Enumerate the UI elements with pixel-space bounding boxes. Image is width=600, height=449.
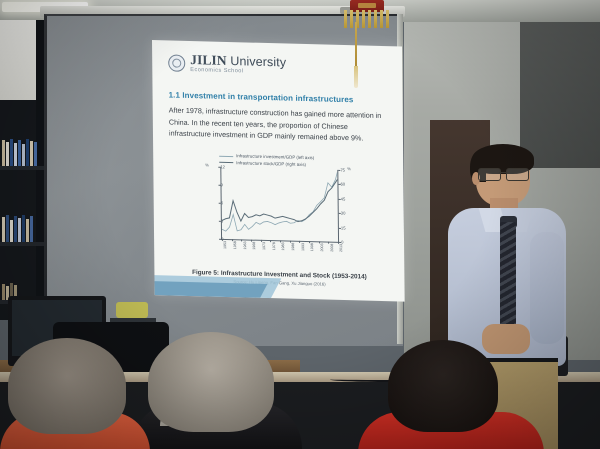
chart-plot-area — [221, 167, 338, 242]
glasses-icon — [478, 168, 530, 179]
logo-university-suffix: University — [227, 54, 287, 70]
desk-lamp — [116, 302, 148, 318]
bookshelf-plank — [0, 166, 44, 170]
x-tick-label: 1988 — [291, 243, 295, 251]
bookshelf-top-panel — [0, 20, 40, 100]
book-group — [2, 214, 33, 242]
x-tick-label: 1983 — [281, 242, 285, 250]
x-tick-label: 1978 — [272, 242, 276, 250]
x-tick-label: 2013 — [339, 244, 343, 252]
screenshot-root: JILIN University Economics School 1.1 In… — [0, 0, 600, 449]
presenter-arm-left — [450, 232, 484, 344]
chart-series-0 — [221, 169, 338, 234]
x-tick-label: 1963 — [243, 241, 247, 249]
y-tick-right: 30 — [341, 211, 346, 216]
chart-series-1 — [221, 176, 337, 223]
x-tick-label: 1958 — [233, 241, 237, 249]
presenter-arm-right — [530, 232, 564, 344]
logo-university-main: JILIN — [190, 52, 227, 68]
x-tick-label: 1998 — [310, 243, 314, 251]
x-tick-label: 1953 — [223, 241, 227, 249]
bookshelf-plank — [0, 242, 44, 246]
chart-legend: Infrastructure investment/GDP (left axis… — [219, 153, 314, 169]
right-wall-dark-panel — [520, 18, 600, 168]
x-tick-label: 1968 — [252, 242, 256, 250]
y-tick-right: 75 — [340, 167, 345, 172]
slide-surface: JILIN University Economics School 1.1 In… — [152, 40, 405, 302]
audience-member-2-head — [148, 332, 274, 432]
tassel-cord — [355, 22, 357, 68]
y-axis-unit-left: % — [205, 162, 209, 167]
tassel-tip — [354, 66, 358, 88]
projected-slide: JILIN University Economics School 1.1 In… — [152, 40, 405, 302]
legend-swatch-0 — [219, 156, 233, 157]
book-group — [2, 138, 37, 166]
slide-body-text: After 1978, infrastructure construction … — [169, 104, 387, 145]
logo-school-name: Economics School — [190, 68, 286, 76]
audience-member-1-head — [8, 338, 126, 434]
audience-member-3-head — [388, 340, 498, 432]
y-axis-unit-right: % — [347, 166, 351, 171]
hanging-tassel-ornament — [340, 0, 396, 16]
jilin-seal-icon — [168, 54, 185, 71]
x-tick-label: 2003 — [320, 243, 324, 251]
y-tick-right: 60 — [340, 182, 345, 187]
chart: Infrastructure investment/GDP (left axis… — [197, 154, 364, 266]
x-tick-label: 2008 — [330, 244, 334, 252]
slide-heading: 1.1 Investment in transportation infrast… — [169, 90, 354, 104]
presenter-hands — [482, 324, 530, 354]
x-tick-label: 1973 — [262, 242, 266, 250]
x-tick-label: 1993 — [301, 243, 305, 251]
slide-logo: JILIN University Economics School — [168, 52, 286, 76]
y-tick-right: 45 — [341, 196, 346, 201]
y-tick-right: 15 — [341, 225, 346, 230]
